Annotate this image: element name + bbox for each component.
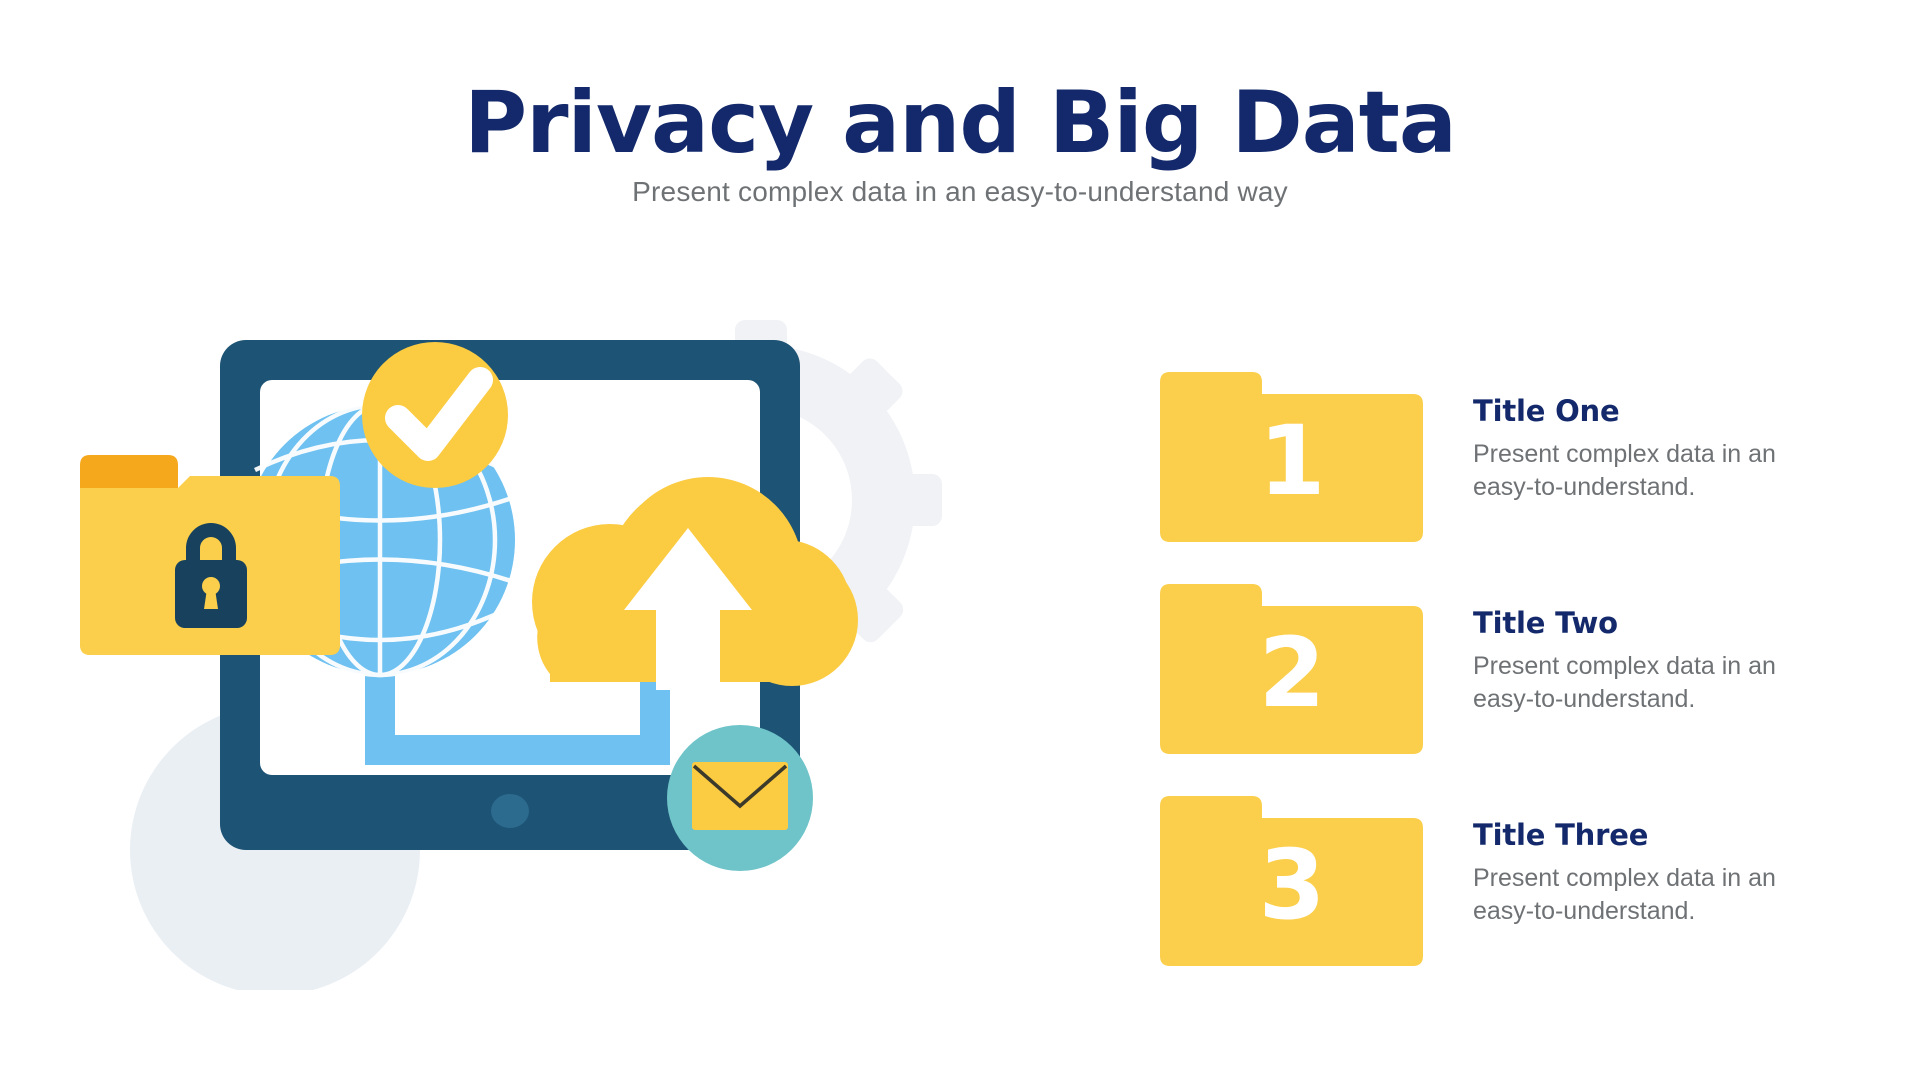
feature-list: 1 Title One Present complex data in an e… <box>1160 372 1860 1008</box>
slide-header: Privacy and Big Data Present complex dat… <box>0 80 1920 208</box>
list-item-text: Title One Present complex data in an eas… <box>1423 372 1833 503</box>
folder-icon: 2 <box>1160 584 1423 754</box>
list-item-title: Title Three <box>1473 818 1833 852</box>
list-item-title: Title Two <box>1473 606 1833 640</box>
list-item-description: Present complex data in an easy-to-under… <box>1473 438 1833 503</box>
slide-canvas: Privacy and Big Data Present complex dat… <box>0 0 1920 1080</box>
page-title: Privacy and Big Data <box>0 80 1920 166</box>
list-item[interactable]: 1 Title One Present complex data in an e… <box>1160 372 1860 542</box>
list-item-description: Present complex data in an easy-to-under… <box>1473 650 1833 715</box>
lock-folder-icon <box>80 455 340 655</box>
folder-icon: 3 <box>1160 796 1423 966</box>
page-subtitle: Present complex data in an easy-to-under… <box>0 176 1920 208</box>
folder-number: 2 <box>1160 608 1423 738</box>
list-item-text: Title Two Present complex data in an eas… <box>1423 584 1833 715</box>
folder-number: 1 <box>1160 396 1423 526</box>
list-item-description: Present complex data in an easy-to-under… <box>1473 862 1833 927</box>
list-item-title: Title One <box>1473 394 1833 428</box>
folder-icon: 1 <box>1160 372 1423 542</box>
mail-icon <box>667 725 813 871</box>
list-item[interactable]: 2 Title Two Present complex data in an e… <box>1160 584 1860 754</box>
list-item-text: Title Three Present complex data in an e… <box>1423 796 1833 927</box>
folder-number: 3 <box>1160 820 1423 950</box>
list-item[interactable]: 3 Title Three Present complex data in an… <box>1160 796 1860 966</box>
illustration-group <box>80 290 1100 990</box>
check-circle-icon <box>362 342 508 488</box>
